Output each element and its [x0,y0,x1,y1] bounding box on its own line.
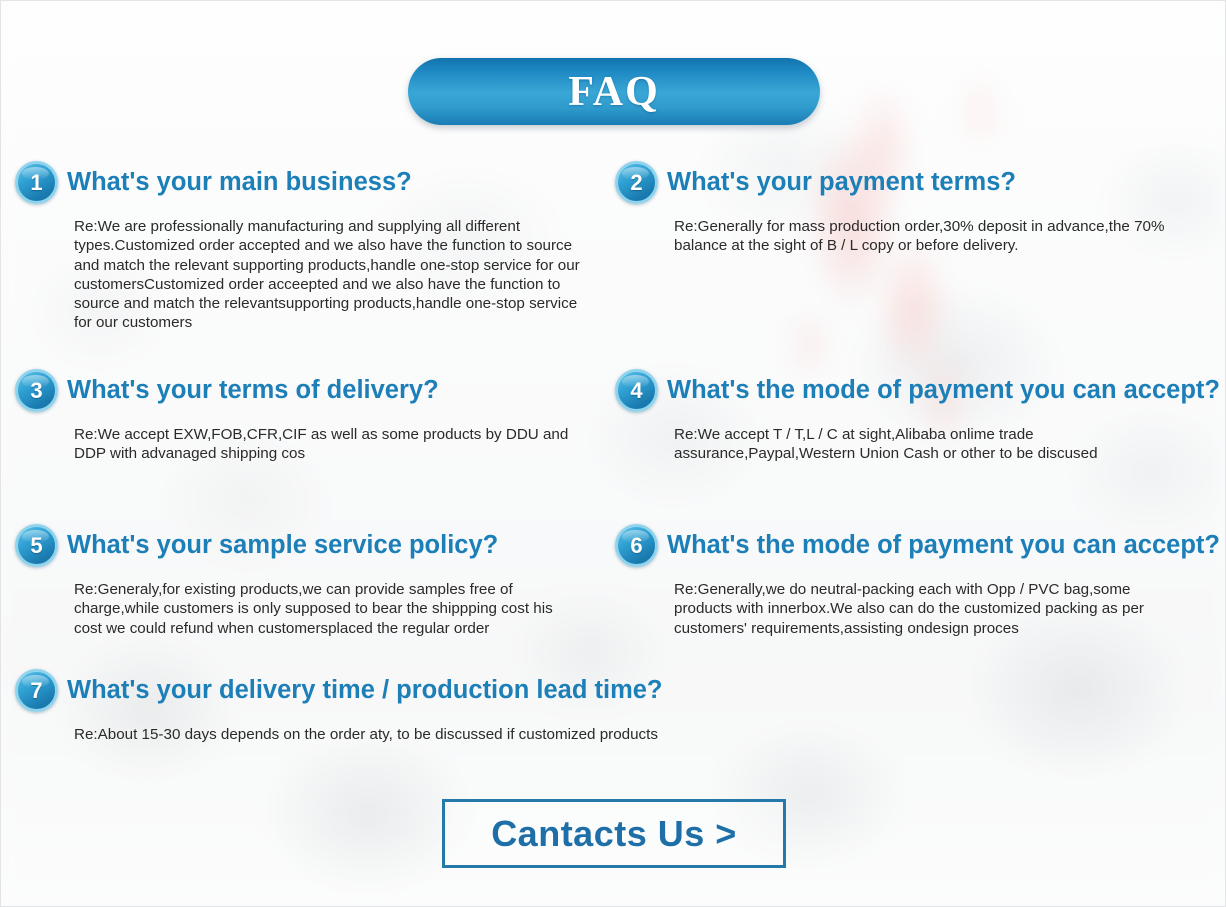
contact-us-button-label: Cantacts Us > [491,816,737,852]
faq-item-5: 5 What's your sample service policy? Re:… [15,526,600,638]
faq-answer-2: Re:Generally for mass production order,3… [674,217,1215,256]
faq-question-7: What's your delivery time / production l… [67,671,663,705]
faq-question-6: What's the mode of payment you can accep… [667,526,1220,560]
faq-answer-4: Re:We accept T / T,L / C at sight,Alibab… [674,425,1144,464]
faq-question-row-6: 6 What's the mode of payment you can acc… [615,526,1220,567]
number-badge-icon-4: 4 [615,369,658,412]
faq-question-row-1: 1 What's your main business? [15,163,585,204]
badge-number-1: 1 [30,172,42,194]
faq-answer-3: Re:We accept EXW,FOB,CFR,CIF as well as … [74,425,600,464]
number-badge-icon-2: 2 [615,161,658,204]
faq-question-2: What's your payment terms? [667,163,1016,197]
badge-number-6: 6 [630,535,642,557]
faq-item-1: 1 What's your main business? Re:We are p… [15,163,585,333]
faq-question-5: What's your sample service policy? [67,526,498,560]
faq-question-row-4: 4 What's the mode of payment you can acc… [615,371,1220,412]
badge-number-3: 3 [30,380,42,402]
contact-us-button[interactable]: Cantacts Us > [442,799,786,868]
faq-item-4: 4 What's the mode of payment you can acc… [615,371,1220,464]
faq-question-row-5: 5 What's your sample service policy? [15,526,600,567]
faq-item-7: 7 What's your delivery time / production… [15,671,715,744]
faq-question-row-7: 7 What's your delivery time / production… [15,671,715,712]
faq-banner-title: FAQ [568,71,660,113]
number-badge-icon-5: 5 [15,524,58,567]
faq-answer-7: Re:About 15-30 days depends on the order… [74,725,715,744]
number-badge-icon-7: 7 [15,669,58,712]
badge-number-5: 5 [30,535,42,557]
faq-item-6: 6 What's the mode of payment you can acc… [615,526,1220,638]
faq-answer-1: Re:We are professionally manufacturing a… [74,217,585,333]
faq-question-1: What's your main business? [67,163,412,197]
faq-banner: FAQ [408,58,820,125]
page-content: FAQ 1 What's your main business? Re:We a… [1,1,1225,906]
faq-answer-5: Re:Generaly,for existing products,we can… [74,580,574,638]
faq-item-3: 3 What's your terms of delivery? Re:We a… [15,371,600,464]
number-badge-icon-3: 3 [15,369,58,412]
faq-question-4: What's the mode of payment you can accep… [667,371,1220,405]
number-badge-icon-6: 6 [615,524,658,567]
faq-page: FAQ 1 What's your main business? Re:We a… [0,0,1226,907]
badge-number-4: 4 [630,380,642,402]
badge-number-2: 2 [630,172,642,194]
badge-number-7: 7 [30,680,42,702]
faq-answer-6: Re:Generally,we do neutral-packing each … [674,580,1174,638]
faq-question-3: What's your terms of delivery? [67,371,439,405]
number-badge-icon-1: 1 [15,161,58,204]
faq-question-row-3: 3 What's your terms of delivery? [15,371,600,412]
faq-item-2: 2 What's your payment terms? Re:Generall… [615,163,1215,256]
faq-question-row-2: 2 What's your payment terms? [615,163,1215,204]
